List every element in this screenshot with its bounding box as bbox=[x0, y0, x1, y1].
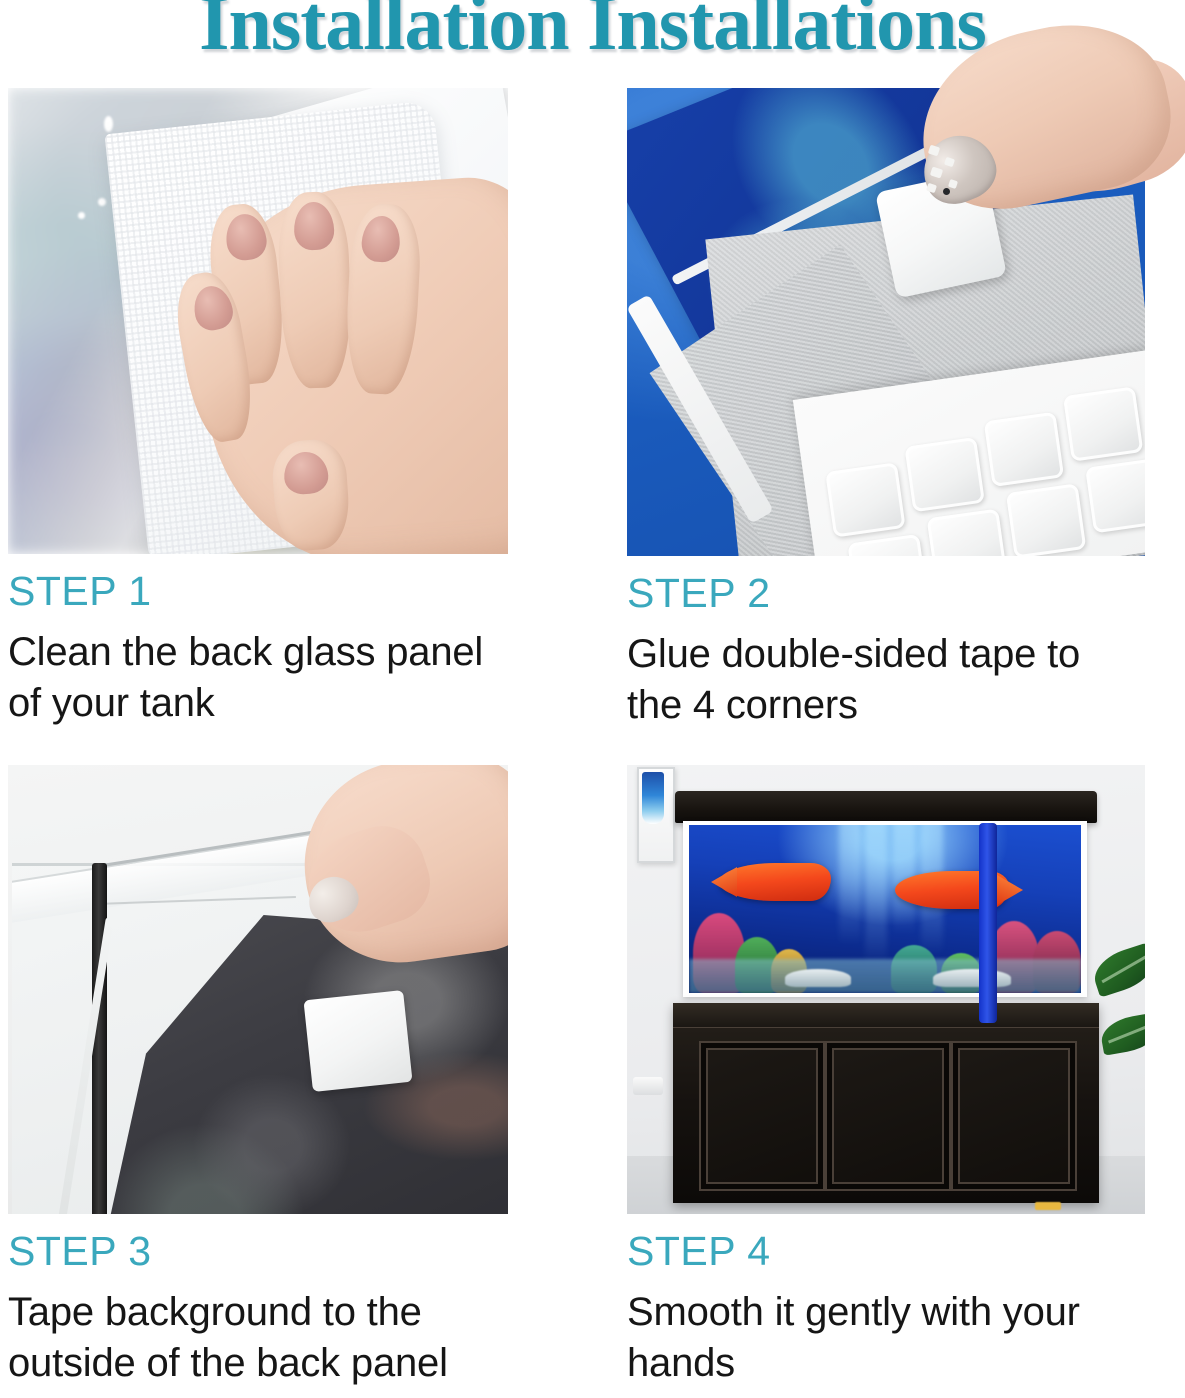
aquarium-rock bbox=[785, 969, 851, 987]
arowana-fish-tail bbox=[711, 867, 737, 897]
wall-picture-artwork bbox=[642, 772, 664, 824]
aquarium-rock bbox=[933, 969, 1011, 987]
step-3-description: Tape background to the outside of the ba… bbox=[8, 1287, 508, 1389]
adhesive-pad bbox=[1063, 386, 1143, 461]
step-4-label: STEP 4 bbox=[627, 1230, 1145, 1273]
cabinet-door[interactable] bbox=[825, 1041, 951, 1191]
step-4-description: Smooth it gently with your hands bbox=[627, 1287, 1145, 1389]
wall-picture-frame bbox=[637, 767, 675, 863]
double-sided-tape-square bbox=[303, 990, 412, 1092]
aquarium-water-with-background bbox=[689, 825, 1081, 993]
floor-accent-object bbox=[1035, 1202, 1061, 1210]
water-droplet bbox=[78, 212, 85, 219]
adhesive-pad bbox=[1085, 458, 1145, 533]
side-table-object bbox=[633, 1077, 663, 1095]
nail-art-dot bbox=[943, 188, 950, 195]
step-2-description: Glue double-sided tape to the 4 corners bbox=[627, 629, 1145, 731]
step-4-photo bbox=[627, 765, 1145, 1214]
light-ray bbox=[839, 825, 861, 945]
step-card-3: STEP 3 Tape background to the outside of… bbox=[8, 765, 508, 1389]
adhesive-pad bbox=[825, 462, 905, 537]
arowana-fish-tail bbox=[997, 875, 1023, 905]
step-card-4: STEP 4 Smooth it gently with your hands bbox=[627, 765, 1145, 1389]
adhesive-pad bbox=[904, 437, 984, 512]
step-1-photo bbox=[8, 88, 508, 554]
adhesive-pad bbox=[927, 509, 1007, 556]
adhesive-pad bbox=[1006, 483, 1086, 556]
aquarium-tank bbox=[683, 821, 1087, 997]
light-ray bbox=[865, 825, 887, 965]
adhesive-pad bbox=[847, 534, 927, 556]
step-3-label: STEP 3 bbox=[8, 1230, 508, 1273]
cabinet-door[interactable] bbox=[951, 1041, 1077, 1191]
aquarium-cabinet bbox=[673, 1003, 1099, 1203]
step-3-photo bbox=[8, 765, 508, 1214]
aquarium-blue-tube bbox=[979, 823, 997, 1023]
step-2-photo bbox=[627, 88, 1145, 556]
step-card-1: STEP 1 Clean the back glass panel of you… bbox=[8, 88, 508, 729]
step-2-label: STEP 2 bbox=[627, 572, 1145, 615]
water-droplet bbox=[104, 116, 113, 132]
step-card-2: STEP 2 Glue double-sided tape to the 4 c… bbox=[627, 88, 1145, 731]
adhesive-pad bbox=[984, 412, 1064, 487]
step-1-label: STEP 1 bbox=[8, 570, 508, 613]
step-1-description: Clean the back glass panel of your tank bbox=[8, 627, 508, 729]
aquarium-hood bbox=[675, 791, 1097, 823]
aquarium-substrate bbox=[689, 959, 1081, 993]
cabinet-top-trim bbox=[673, 1003, 1099, 1028]
water-droplet bbox=[98, 198, 106, 206]
cabinet-door[interactable] bbox=[699, 1041, 825, 1191]
